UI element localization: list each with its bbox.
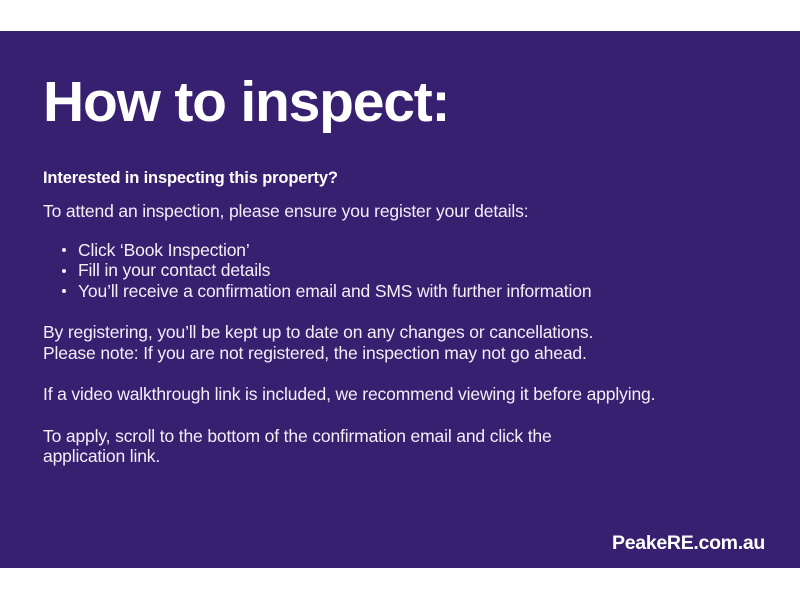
spacer: [43, 301, 763, 322]
subheading: Interested in inspecting this property?: [43, 169, 338, 188]
list-item: Fill in your contact details: [43, 260, 763, 281]
slide-content: How to inspect: Interested in inspecting…: [43, 31, 773, 568]
apply-instruction-line-1: To apply, scroll to the bottom of the co…: [43, 426, 763, 447]
list-item-label: You’ll receive a confirmation email and …: [78, 281, 591, 301]
spacer: [43, 405, 763, 426]
apply-instruction-line-2: application link.: [43, 446, 763, 467]
slide-panel: How to inspect: Interested in inspecting…: [0, 31, 800, 568]
list-item: You’ll receive a confirmation email and …: [43, 281, 763, 302]
video-walkthrough-note: If a video walkthrough link is included,…: [43, 384, 763, 405]
bullet-dot-icon: [62, 248, 66, 252]
bullet-dot-icon: [62, 269, 66, 273]
body-content: To attend an inspection, please ensure y…: [43, 201, 763, 467]
list-item-label: Fill in your contact details: [78, 260, 270, 280]
spacer: [43, 363, 763, 384]
list-item: Click ‘Book Inspection’: [43, 240, 763, 261]
spacer: [43, 222, 763, 240]
registration-note-line-2: Please note: If you are not registered, …: [43, 343, 763, 364]
intro-paragraph: To attend an inspection, please ensure y…: [43, 201, 763, 222]
page-title: How to inspect:: [43, 73, 449, 133]
brand-footer: PeakeRE.com.au: [612, 532, 765, 555]
steps-list: Click ‘Book Inspection’ Fill in your con…: [43, 240, 763, 302]
registration-note-line-1: By registering, you’ll be kept up to dat…: [43, 322, 763, 343]
bullet-dot-icon: [62, 289, 66, 293]
list-item-label: Click ‘Book Inspection’: [78, 240, 250, 260]
